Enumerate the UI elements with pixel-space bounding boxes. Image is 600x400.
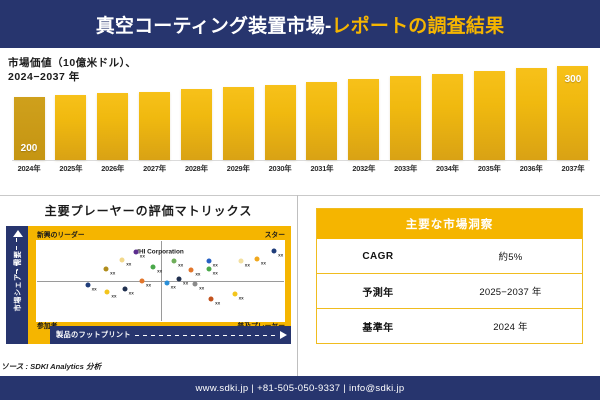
chart-bar <box>139 92 170 160</box>
matrix-data-point-label: xx <box>126 262 131 267</box>
matrix-y-axis-label: 市場シェア・需要 <box>13 242 23 320</box>
matrix-data-point-label: xx <box>157 269 162 274</box>
page-title: 真空コーティング装置市場-レポートの調査結果 <box>96 11 505 38</box>
bar-slot <box>221 60 255 160</box>
matrix-data-point-label: xx <box>213 262 218 267</box>
insights-table: 主要な市場洞察 CAGR約5%予測年2025−2037 年基準年2024 年 <box>316 208 583 344</box>
page-header: 真空コーティング装置市場-レポートの調査結果 <box>0 0 600 48</box>
chart-bar <box>390 76 421 160</box>
chart-bar <box>474 71 505 160</box>
source-note: ソース : SDKI Analytics 分析 <box>1 361 101 372</box>
matrix-data-point <box>232 291 237 296</box>
insights-row-value: 約5% <box>439 249 582 263</box>
matrix-data-point-label: xx <box>195 271 200 276</box>
bar-slot <box>514 60 548 160</box>
page-title-accent: レポートの調査結果 <box>331 16 504 37</box>
matrix-title: 主要プレーヤーの評価マトリックス <box>0 202 297 219</box>
chart-bar <box>181 89 212 160</box>
page-title-main: 真空コーティング装置市場- <box>96 16 332 37</box>
matrix-data-point-label: xx <box>261 260 266 265</box>
matrix-data-point-label: xx <box>178 263 183 268</box>
insights-row-key: 基準年 <box>317 319 439 334</box>
market-value-chart: 市場価値（10億米ドル）、 2024−2037 年 200300 2024年20… <box>0 48 600 195</box>
matrix-data-point <box>139 279 144 284</box>
arrow-right-icon <box>280 331 287 339</box>
insights-row: 予測年2025−2037 年 <box>317 273 582 308</box>
matrix-chart: 市場シェア・需要 新興のリーダー スター 参加者 普及プレーヤー IHI Cor… <box>6 226 291 344</box>
x-tick-label: 2025年 <box>54 163 88 178</box>
insights-row-key: CAGR <box>317 251 439 262</box>
x-tick-label: 2034年 <box>430 163 464 178</box>
matrix-data-point-label: xx <box>140 254 145 259</box>
bar-slot <box>138 60 172 160</box>
matrix-data-point-label: xx <box>199 286 204 291</box>
matrix-data-point <box>193 282 198 287</box>
page-footer: www.sdki.jp | +81-505-050-9337 | info@sd… <box>0 376 600 400</box>
matrix-data-point <box>189 267 194 272</box>
chart-bar <box>306 82 337 160</box>
matrix-data-point-label: xx <box>171 284 176 289</box>
matrix-data-point <box>209 296 214 301</box>
x-tick-label: 2032年 <box>347 163 381 178</box>
matrix-y-axis: 市場シェア・需要 <box>6 226 28 344</box>
x-tick-label: 2027年 <box>138 163 172 178</box>
arrow-up-icon <box>13 230 23 237</box>
x-tick-label: 2033年 <box>389 163 423 178</box>
bar-slot <box>430 60 464 160</box>
insights-row-key: 予測年 <box>317 284 439 299</box>
matrix-data-point <box>120 258 125 263</box>
matrix-data-point <box>122 287 127 292</box>
matrix-data-point-label: xx <box>183 281 188 286</box>
infographic-page: 真空コーティング装置市場-レポートの調査結果 市場価値（10億米ドル）、 202… <box>0 0 600 400</box>
bar-slot: 300 <box>556 60 590 160</box>
quadrant-label-stars: スター <box>265 229 285 239</box>
x-tick-label: 2030年 <box>263 163 297 178</box>
bar-value-label: 200 <box>14 143 45 154</box>
matrix-data-point <box>105 290 110 295</box>
matrix-data-point <box>206 266 211 271</box>
matrix-data-point <box>104 267 109 272</box>
quadrant-label-emerging-leaders: 新興のリーダー <box>37 229 85 239</box>
bar-slot <box>96 60 130 160</box>
insights-row-value: 2025−2037 年 <box>439 284 582 298</box>
bar-slot <box>179 60 213 160</box>
x-tick-label: 2031年 <box>305 163 339 178</box>
footer-contact-text: www.sdki.jp | +81-505-050-9337 | info@sd… <box>196 383 405 394</box>
matrix-data-point-label: xx <box>92 287 97 292</box>
matrix-data-point <box>133 250 138 255</box>
matrix-data-point-label: xx <box>146 283 151 288</box>
matrix-data-point <box>206 258 211 263</box>
chart-axis-line <box>12 160 590 161</box>
x-tick-label: 2028年 <box>179 163 213 178</box>
matrix-data-point <box>238 258 243 263</box>
x-tick-label: 2037年 <box>556 163 590 178</box>
x-tick-label: 2029年 <box>221 163 255 178</box>
matrix-x-axis: 製品のフットプリント <box>50 326 291 344</box>
chart-plot-area: 200300 2024年2025年2026年2027年2028年2029年203… <box>12 60 590 178</box>
matrix-data-point <box>177 277 182 282</box>
chart-bar <box>265 85 296 160</box>
key-insights-panel: 主要な市場洞察 CAGR約5%予測年2025−2037 年基準年2024 年 <box>298 195 600 377</box>
insights-table-header: 主要な市場洞察 <box>317 209 582 239</box>
bar-slot <box>347 60 381 160</box>
matrix-x-axis-label: 製品のフットプリント <box>56 330 131 340</box>
chart-bar <box>97 93 128 160</box>
chart-bar <box>516 68 547 160</box>
bar-slot <box>54 60 88 160</box>
matrix-data-point <box>272 248 277 253</box>
bar-slot <box>389 60 423 160</box>
matrix-data-point-label: xx <box>215 300 220 305</box>
bar-slot: 200 <box>12 60 46 160</box>
matrix-data-point-label: xx <box>129 291 134 296</box>
x-tick-label: 2026年 <box>96 163 130 178</box>
chart-bar <box>432 74 463 160</box>
matrix-inner-area: 新興のリーダー スター 参加者 普及プレーヤー IHI Corporation … <box>28 226 291 344</box>
x-tick-label: 2036年 <box>514 163 548 178</box>
matrix-data-point <box>254 256 259 261</box>
bar-slot <box>263 60 297 160</box>
bar-slot <box>472 60 506 160</box>
chart-bar <box>223 87 254 160</box>
matrix-data-point-label: xx <box>245 262 250 267</box>
matrix-data-point-label: xx <box>110 271 115 276</box>
matrix-scatter-plot: IHI Corporation xxxxxxxxxxxxxxxxxxxxxxxx… <box>36 240 285 322</box>
insights-row: CAGR約5% <box>317 239 582 273</box>
chart-bar <box>55 95 86 160</box>
bar-slot <box>305 60 339 160</box>
x-tick-label: 2024年 <box>12 163 46 178</box>
matrix-data-point-label: xx <box>213 270 218 275</box>
x-tick-label: 2035年 <box>472 163 506 178</box>
matrix-data-point <box>85 283 90 288</box>
matrix-data-point-label: xx <box>239 295 244 300</box>
chart-bar: 300 <box>557 66 588 160</box>
chart-bar: 200 <box>14 97 45 160</box>
bar-value-label: 300 <box>557 74 588 85</box>
bar-series: 200300 <box>12 60 590 160</box>
matrix-data-point <box>172 259 177 264</box>
player-matrix-panel: 主要プレーヤーの評価マトリックス 市場シェア・需要 新興のリーダー スター 参加… <box>0 195 297 377</box>
insights-table-body: CAGR約5%予測年2025−2037 年基準年2024 年 <box>317 239 582 343</box>
matrix-data-point <box>164 280 169 285</box>
matrix-data-point <box>151 265 156 270</box>
lower-section: 主要プレーヤーの評価マトリックス 市場シェア・需要 新興のリーダー スター 参加… <box>0 195 600 376</box>
chart-bar <box>348 79 379 160</box>
chart-x-tick-labels: 2024年2025年2026年2027年2028年2029年2030年2031年… <box>12 163 590 178</box>
quadrant-horizontal-divider <box>37 281 284 282</box>
x-axis-dashed-line <box>135 335 278 336</box>
insights-row-value: 2024 年 <box>439 319 582 333</box>
matrix-data-point-label: xx <box>278 252 283 257</box>
insights-row: 基準年2024 年 <box>317 308 582 343</box>
matrix-data-point-label: xx <box>111 294 116 299</box>
